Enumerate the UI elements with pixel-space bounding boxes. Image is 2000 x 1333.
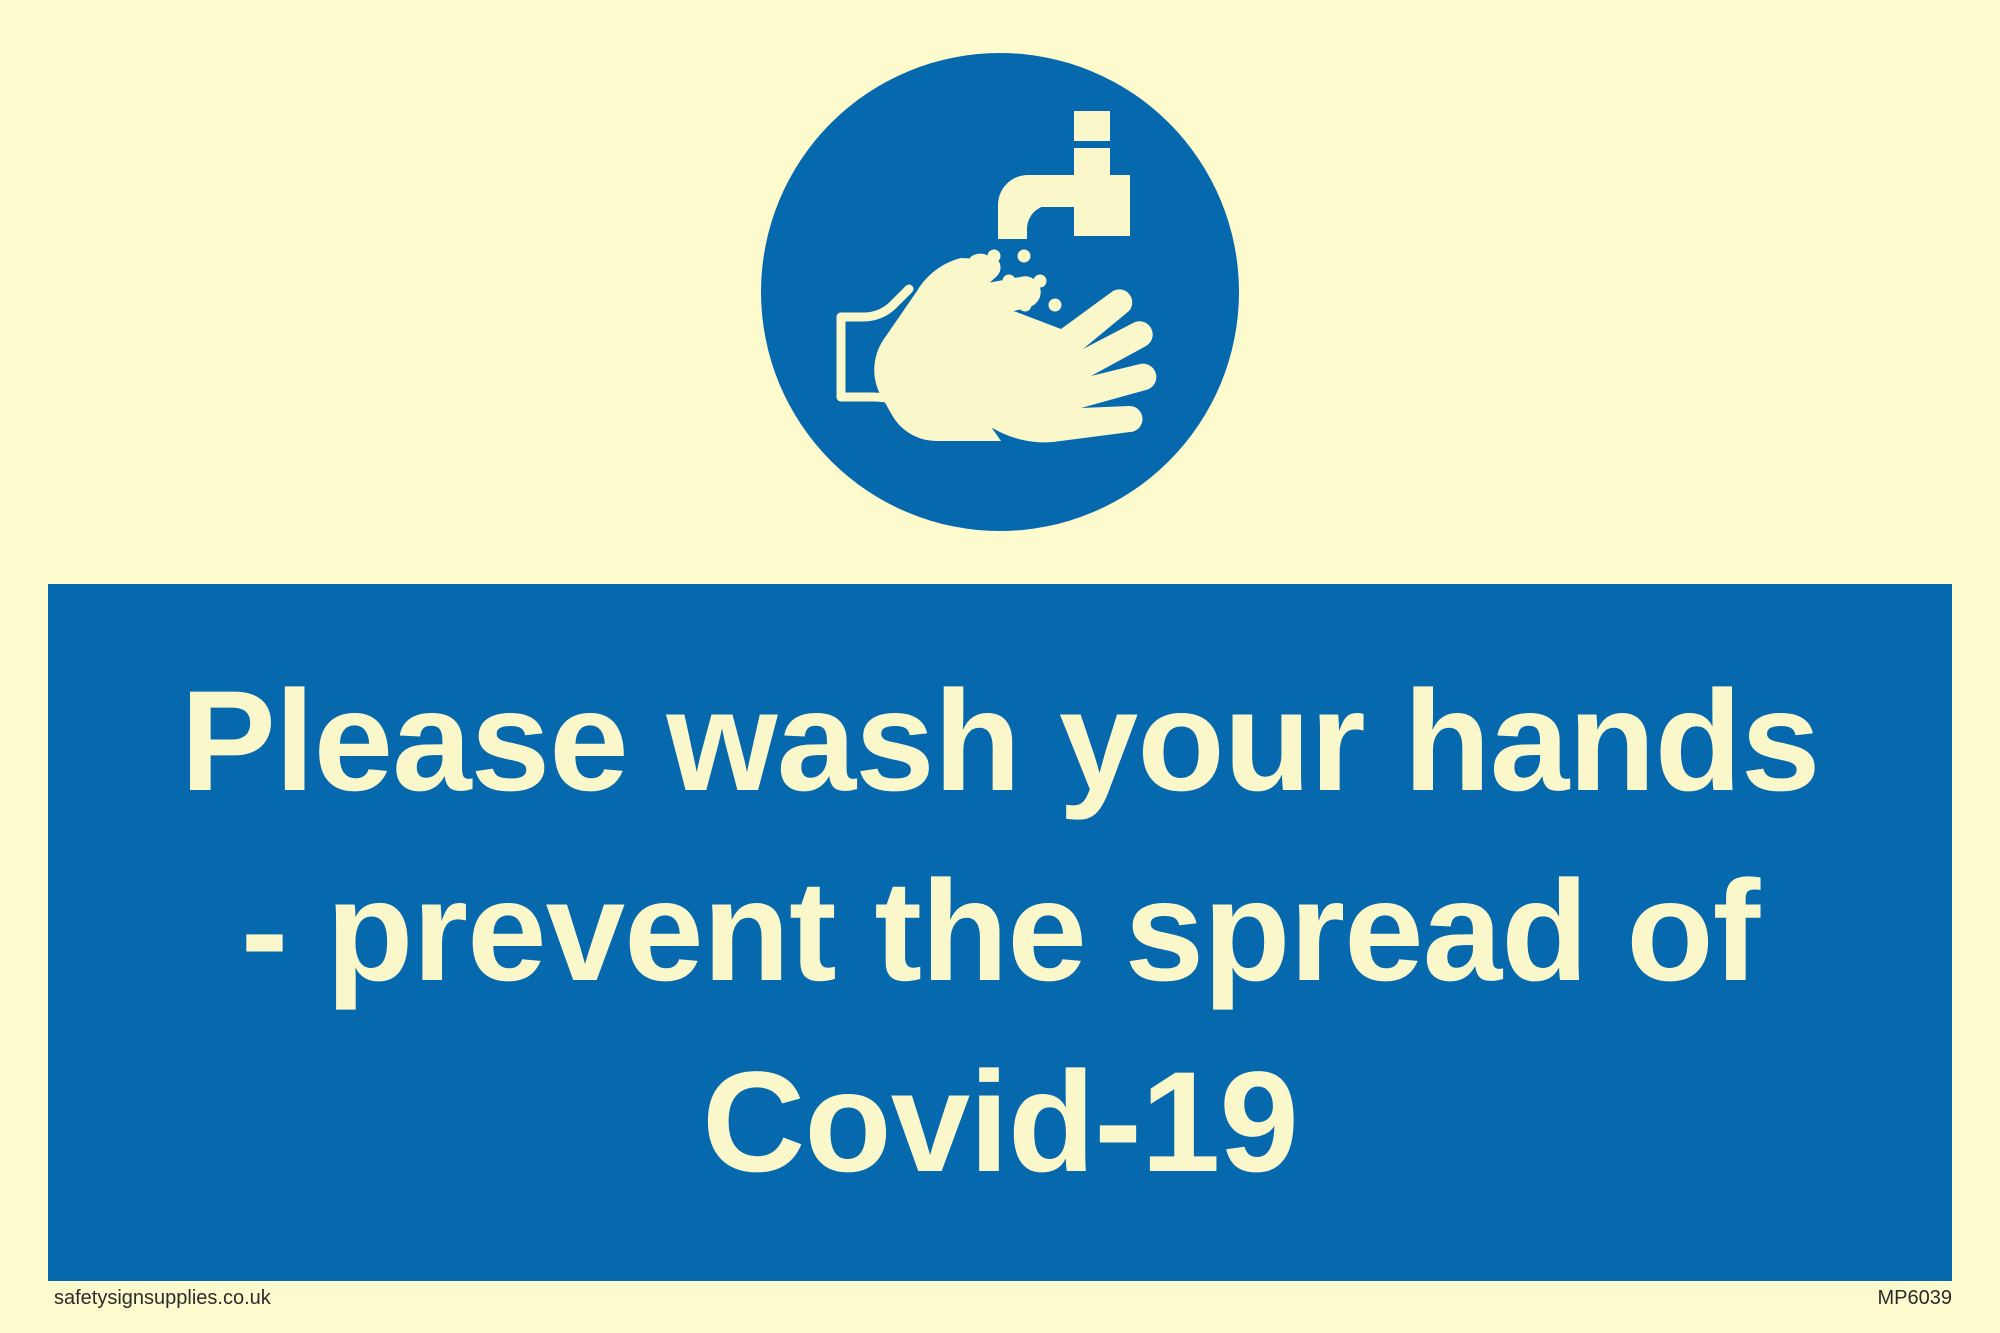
message-panel: Please wash your hands - prevent the spr… xyxy=(48,584,1952,1281)
footer: safetysignsupplies.co.uk MP6039 xyxy=(0,1281,2000,1333)
wash-your-hands-pictogram xyxy=(761,53,1239,531)
footer-product-code: MP6039 xyxy=(1878,1287,1953,1310)
message-line-3: Covid-19 xyxy=(88,1028,1912,1218)
message-line-1: Please wash your hands xyxy=(88,647,1912,837)
pictogram-area xyxy=(0,0,2000,584)
message-line-2: - prevent the spread of xyxy=(88,837,1912,1027)
message-text: Please wash your hands - prevent the spr… xyxy=(48,647,1952,1218)
footer-website-label: safetysignsupplies.co.uk xyxy=(54,1287,271,1310)
safety-sign: Please wash your hands - prevent the spr… xyxy=(0,0,2000,1333)
